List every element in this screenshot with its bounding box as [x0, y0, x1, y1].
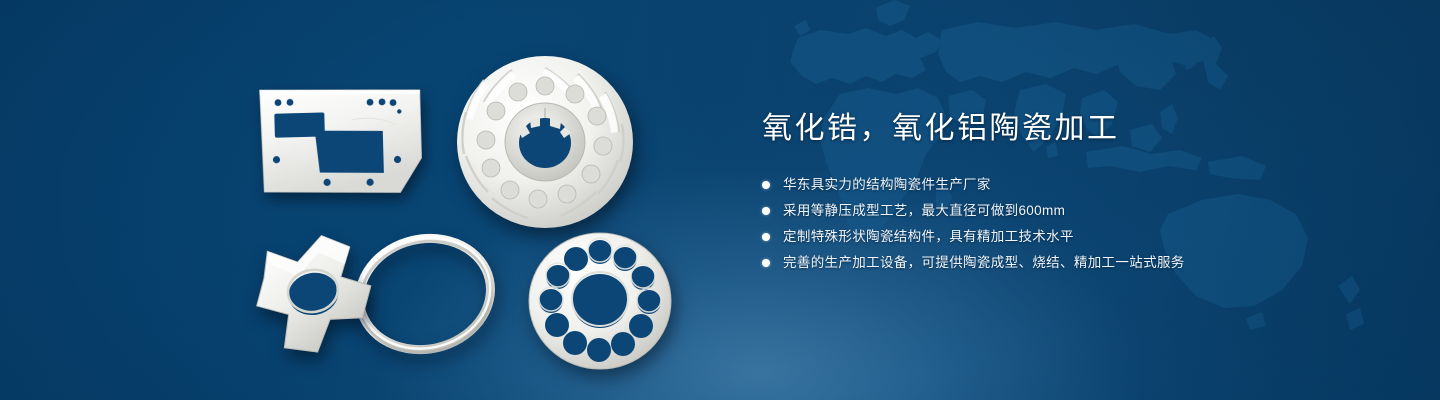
bullet-dot-icon — [762, 181, 770, 189]
page-title: 氧化锆，氧化铝陶瓷加工 — [762, 110, 1382, 148]
list-item: 华东具实力的结构陶瓷件生产厂家 — [762, 175, 1382, 195]
list-item: 采用等静压成型工艺，最大直径可做到600mm — [762, 201, 1382, 221]
ceramic-cross-image — [247, 228, 407, 368]
feature-text: 采用等静压成型工艺，最大直径可做到600mm — [783, 203, 1065, 218]
ceramic-processing-banner: 氧化锆，氧化铝陶瓷加工 华东具实力的结构陶瓷件生产厂家 采用等静压成型工艺，最大… — [0, 0, 1440, 400]
feature-text: 定制特殊形状陶瓷结构件，具有精加工技术水平 — [783, 229, 1074, 244]
banner-copy: 氧化锆，氧化铝陶瓷加工 华东具实力的结构陶瓷件生产厂家 采用等静压成型工艺，最大… — [762, 110, 1382, 279]
list-item: 完善的生产加工设备，可提供陶瓷成型、烧结、精加工一站式服务 — [762, 253, 1382, 273]
ceramic-disc-image — [525, 230, 675, 372]
list-item: 定制特殊形状陶瓷结构件，具有精加工技术水平 — [762, 227, 1382, 247]
bullet-dot-icon — [762, 207, 770, 215]
bullet-dot-icon — [762, 233, 770, 241]
ceramic-impeller-image — [450, 52, 640, 232]
feature-text: 完善的生产加工设备，可提供陶瓷成型、烧结、精加工一站式服务 — [783, 255, 1185, 270]
feature-text: 华东具实力的结构陶瓷件生产厂家 — [783, 177, 991, 192]
product-photo-group — [235, 40, 705, 380]
bullet-dot-icon — [762, 259, 770, 267]
ceramic-plate-image — [256, 80, 427, 200]
feature-list: 华东具实力的结构陶瓷件生产厂家 采用等静压成型工艺，最大直径可做到600mm 定… — [762, 175, 1382, 273]
